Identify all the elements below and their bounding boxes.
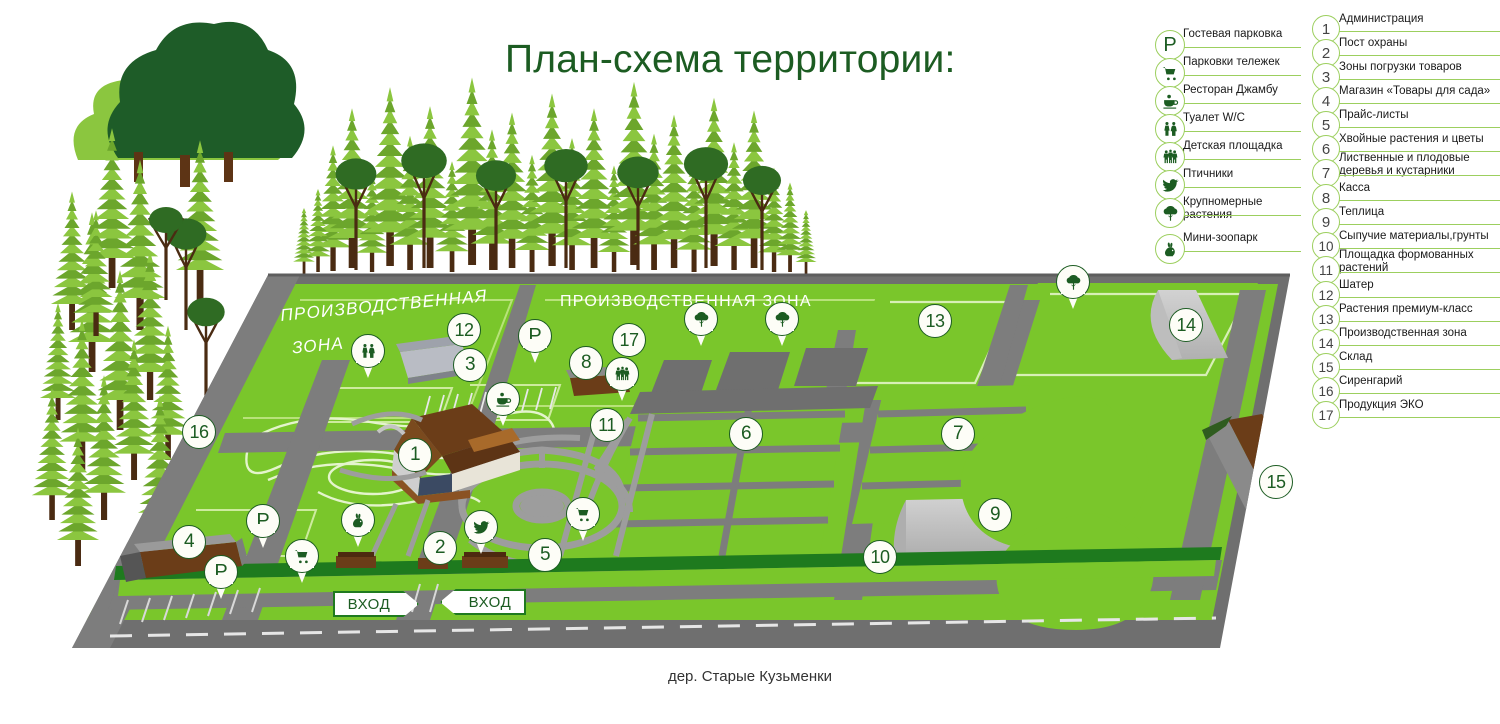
map-number-marker-14[interactable]: 14 xyxy=(1169,308,1203,342)
restroom-icon xyxy=(1155,114,1185,144)
number-legend-row-14: 14Производственная зона xyxy=(1312,329,1500,353)
plaza-center xyxy=(520,495,564,517)
icon-legend-label: Птичники xyxy=(1183,168,1303,181)
legend-leader-line xyxy=(1332,345,1500,346)
map-pin-coffee-cup-icon-7[interactable] xyxy=(486,382,520,428)
number-legend-label: Пост охраны xyxy=(1339,37,1500,50)
deciduous-tree-cluster xyxy=(74,22,305,187)
number-legend-label: Сыпучие материалы,грунты xyxy=(1339,230,1500,243)
number-legend-row-7: 7Лиственные и плодовые деревья и кустарн… xyxy=(1312,159,1500,184)
map-number-marker-6[interactable]: 6 xyxy=(729,417,763,451)
icon-legend-label: Гостевая парковка xyxy=(1183,28,1303,41)
coffee-cup-icon xyxy=(1155,86,1185,116)
icon-legend-label: Парковки тележек xyxy=(1183,56,1303,69)
icon-legend-label: Ресторан Джамбу xyxy=(1183,84,1303,97)
map-pin-parking-icon-8[interactable]: P xyxy=(246,504,280,550)
legend-leader-line xyxy=(1332,297,1500,298)
pin-mask xyxy=(523,339,547,348)
number-legend-row-2: 2Пост охраны xyxy=(1312,39,1500,63)
number-legend-row-3: 3Зоны погрузки товаров xyxy=(1312,63,1500,87)
legend-leader-line xyxy=(1332,127,1500,128)
legend-number-badge: 11 xyxy=(1312,256,1340,284)
legend-leader-line xyxy=(1177,251,1301,252)
number-legend-row-8: 8Касса xyxy=(1312,184,1500,208)
legend-leader-line xyxy=(1332,417,1500,418)
legend-leader-line xyxy=(1177,131,1301,132)
pin-mask xyxy=(209,575,233,584)
number-legend-row-1: 1Администрация xyxy=(1312,15,1500,39)
map-number-marker-10[interactable]: 10 xyxy=(863,540,897,574)
icon-legend-row-3: Ресторан Джамбу xyxy=(1155,86,1300,114)
number-legend-label: Касса xyxy=(1339,182,1500,195)
map-pin-playground-icon-3[interactable] xyxy=(605,357,639,403)
number-legend: 1Администрация2Пост охраны3Зоны погрузки… xyxy=(1312,15,1500,425)
icon-legend-row-7: Крупномерные растения xyxy=(1155,198,1300,234)
location-caption: дер. Старые Кузьменки xyxy=(0,668,1500,685)
number-legend-label: Сиренгарий xyxy=(1339,375,1500,388)
legend-leader-line xyxy=(1332,55,1500,56)
map-pin-tree-icon-6[interactable] xyxy=(1056,265,1090,311)
number-legend-row-12: 12Шатер xyxy=(1312,281,1500,305)
number-legend-row-9: 9Теплица xyxy=(1312,208,1500,232)
icon-legend-row-4: Туалет W/C xyxy=(1155,114,1300,142)
map-pin-parking-icon-2[interactable]: P xyxy=(518,319,552,365)
legend-number-badge: 7 xyxy=(1312,159,1340,187)
map-number-marker-1[interactable]: 1 xyxy=(398,438,432,472)
map-pin-tree-icon-5[interactable] xyxy=(765,302,799,348)
icon-legend-label: Туалет W/C xyxy=(1183,112,1303,125)
legend-leader-line xyxy=(1332,321,1500,322)
bird-icon xyxy=(1155,170,1185,200)
number-legend-label: Хвойные растения и цветы xyxy=(1339,133,1500,146)
number-legend-row-15: 15Склад xyxy=(1312,353,1500,377)
legend-leader-line xyxy=(1177,47,1301,48)
legend-leader-line xyxy=(1177,159,1301,160)
number-legend-label: Склад xyxy=(1339,351,1500,364)
icon-legend-label: Крупномерные растения xyxy=(1183,196,1303,222)
icon-legend-row-5: Детская площадка xyxy=(1155,142,1300,170)
legend-leader-line xyxy=(1332,272,1500,273)
legend-leader-line xyxy=(1332,369,1500,370)
number-legend-row-11: 11Площадка формованных растений xyxy=(1312,256,1500,281)
legend-leader-line xyxy=(1177,75,1301,76)
number-legend-row-4: 4Магазин «Товары для сада» xyxy=(1312,87,1500,111)
number-legend-row-13: 13Растения премиум-класс xyxy=(1312,305,1500,329)
number-legend-label: Прайс-листы xyxy=(1339,109,1500,122)
legend-leader-line xyxy=(1332,151,1500,152)
legend-leader-line xyxy=(1332,103,1500,104)
icon-legend-row-1: PГостевая парковка xyxy=(1155,30,1300,58)
icon-legend-row-8: Мини-зоопарк xyxy=(1155,234,1300,262)
number-legend-label: Зоны погрузки товаров xyxy=(1339,61,1500,74)
number-legend-label: Теплица xyxy=(1339,206,1500,219)
number-legend-label: Шатер xyxy=(1339,279,1500,292)
legend-leader-line xyxy=(1332,79,1500,80)
number-legend-label: Магазин «Товары для сада» xyxy=(1339,85,1500,98)
legend-leader-line xyxy=(1177,215,1301,216)
pin-mask xyxy=(251,524,275,533)
conifer-forest-top xyxy=(293,78,817,274)
rabbit-icon xyxy=(1155,234,1185,264)
map-pin-bird-icon-12[interactable] xyxy=(464,510,498,556)
legend-leader-line xyxy=(1332,31,1500,32)
entrance-sign-right[interactable]: ВХОД xyxy=(440,589,526,615)
icon-legend-row-2: Парковки тележек xyxy=(1155,58,1300,86)
number-legend-label: Продукция ЭКО xyxy=(1339,399,1500,412)
legend-leader-line xyxy=(1332,224,1500,225)
legend-leader-line xyxy=(1177,187,1301,188)
site-map: ПРОИЗВОДСТВЕННАЯ ЗОНА ПРОИЗВОДСТВЕННАЯ З… xyxy=(0,0,1320,724)
entrance-sign-left[interactable]: ВХОД xyxy=(333,591,419,617)
tree-icon xyxy=(1155,198,1185,228)
map-number-marker-3[interactable]: 3 xyxy=(453,348,487,382)
legend-leader-line xyxy=(1332,393,1500,394)
page-title: План-схема территории: xyxy=(505,38,1105,82)
map-number-marker-4[interactable]: 4 xyxy=(172,525,206,559)
icon-legend-label: Мини-зоопарк xyxy=(1183,232,1303,245)
map-number-marker-13[interactable]: 13 xyxy=(918,304,952,338)
map-number-marker-8[interactable]: 8 xyxy=(569,346,603,380)
shopping-cart-icon xyxy=(1155,58,1185,88)
map-pin-shopping-cart-icon-13[interactable] xyxy=(566,497,600,543)
icon-legend-label: Детская площадка xyxy=(1183,140,1303,153)
map-pin-parking-icon-9[interactable]: P xyxy=(204,555,238,601)
number-legend-row-16: 16Сиренгарий xyxy=(1312,377,1500,401)
number-legend-label: Растения премиум-класс xyxy=(1339,303,1500,316)
map-number-marker-15[interactable]: 15 xyxy=(1259,465,1293,499)
map-pin-shopping-cart-icon-10[interactable] xyxy=(285,539,319,585)
map-pin-tree-icon-4[interactable] xyxy=(684,302,718,348)
map-illustration xyxy=(0,0,1320,724)
parking-icon: P xyxy=(1155,30,1185,60)
map-number-marker-5[interactable]: 5 xyxy=(528,538,562,572)
number-legend-label: Производственная зона xyxy=(1339,327,1500,340)
number-legend-row-17: 17Продукция ЭКО xyxy=(1312,401,1500,425)
map-number-marker-9[interactable]: 9 xyxy=(978,498,1012,532)
number-legend-label: Администрация xyxy=(1339,13,1500,26)
legend-leader-line xyxy=(1177,103,1301,104)
icon-legend-row-6: Птичники xyxy=(1155,170,1300,198)
map-pin-restroom-icon-1[interactable] xyxy=(351,334,385,380)
map-number-marker-12[interactable]: 12 xyxy=(447,313,481,347)
map-number-marker-7[interactable]: 7 xyxy=(941,417,975,451)
legend-leader-line xyxy=(1332,248,1500,249)
map-number-marker-16[interactable]: 16 xyxy=(182,415,216,449)
legend-leader-line xyxy=(1332,175,1500,176)
legend-leader-line xyxy=(1332,200,1500,201)
legend-number-badge: 17 xyxy=(1312,401,1340,429)
map-pin-rabbit-icon-11[interactable] xyxy=(341,503,375,549)
icon-legend: PГостевая парковкаПарковки тележекРестор… xyxy=(1155,30,1300,262)
map-number-marker-17[interactable]: 17 xyxy=(612,323,646,357)
map-number-marker-11[interactable]: 11 xyxy=(590,408,624,442)
map-number-marker-2[interactable]: 2 xyxy=(423,531,457,565)
playground-icon xyxy=(1155,142,1185,172)
number-legend-row-5: 5Прайс-листы xyxy=(1312,111,1500,135)
